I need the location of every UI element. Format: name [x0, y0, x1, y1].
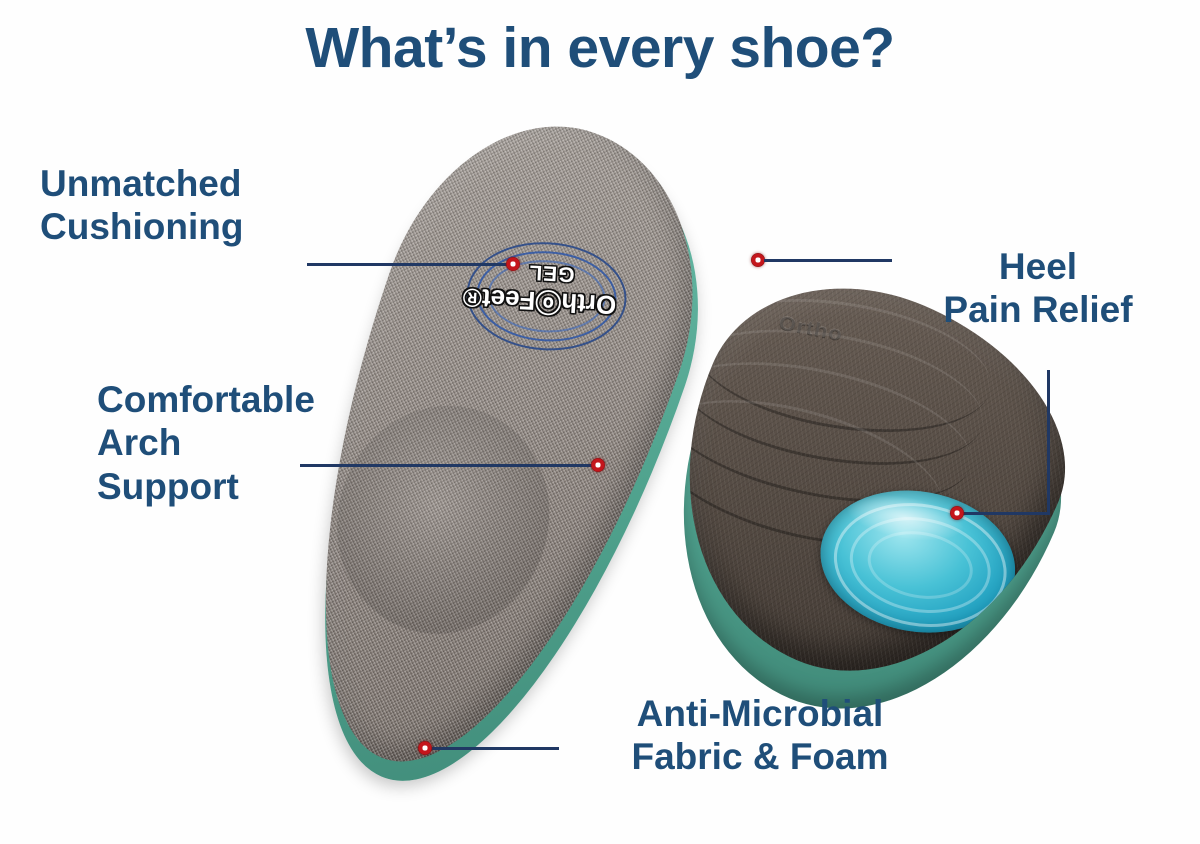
leader-line-heel-vertical: [1047, 370, 1050, 515]
leader-line-heel-horizontal: [955, 512, 1050, 515]
page-title: What’s in every shoe?: [0, 18, 1200, 78]
marker-dot-anti-microbial: [418, 741, 432, 755]
callout-label-anti-microbial-fabric-and-foam: Anti-Microbial Fabric & Foam: [565, 692, 955, 779]
leader-line-arch: [300, 464, 600, 467]
infographic-canvas: Ortho OrthⓞFeet® GEL: [0, 0, 1200, 844]
callout-label-heel-pain-relief: Heel Pain Relief: [893, 245, 1183, 332]
callout-label-comfortable-arch-support: Comfortable Arch Support: [97, 378, 315, 508]
leader-line-cushioning: [307, 263, 515, 266]
marker-dot-heel-top: [751, 253, 765, 267]
leader-line-heel-top: [764, 259, 892, 262]
callout-label-unmatched-cushioning: Unmatched Cushioning: [40, 162, 243, 249]
marker-dot-heel: [950, 506, 964, 520]
marker-dot-cushioning: [506, 257, 520, 271]
logo-wordmark: OrthⓞFeet®: [469, 281, 617, 326]
marker-dot-arch: [591, 458, 605, 472]
leader-line-anti-microbial: [424, 747, 559, 750]
